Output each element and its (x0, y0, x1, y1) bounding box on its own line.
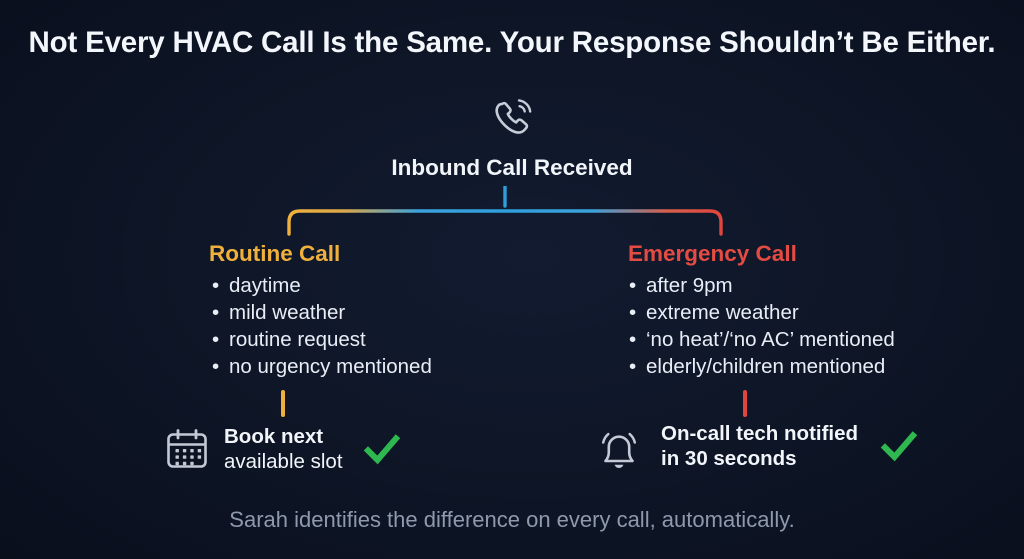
infographic-canvas: Not Every HVAC Call Is the Same. Your Re… (0, 0, 1024, 559)
branch-heading-emergency: Emergency Call (628, 241, 797, 267)
branch-heading-routine: Routine Call (209, 241, 340, 267)
connector-stub-routine (281, 390, 285, 417)
list-item: ‘no heat’/‘no AC’ mentioned (628, 326, 895, 353)
list-item: elderly/children mentioned (628, 353, 895, 380)
list-item: extreme weather (628, 299, 895, 326)
calendar-icon (163, 425, 211, 473)
outcome-line-2: available slot (224, 449, 343, 474)
footer-caption: Sarah identifies the difference on every… (0, 507, 1024, 533)
branch-criteria-routine: daytime mild weather routine request no … (211, 272, 432, 380)
bell-icon (593, 422, 645, 470)
outcome-text-routine: Book next available slot (224, 424, 343, 474)
check-icon (363, 430, 401, 468)
list-item: daytime (211, 272, 432, 299)
page-title: Not Every HVAC Call Is the Same. Your Re… (0, 26, 1024, 60)
list-item: routine request (211, 326, 432, 353)
outcome-emergency: On-call tech notified in 30 seconds (593, 421, 918, 471)
list-item: no urgency mentioned (211, 353, 432, 380)
branch-connector (270, 186, 740, 238)
outcome-line-1: Book next (224, 424, 343, 449)
branch-criteria-emergency: after 9pm extreme weather ‘no heat’/‘no … (628, 272, 895, 380)
list-item: mild weather (211, 299, 432, 326)
outcome-line-2: in 30 seconds (661, 446, 858, 471)
root-node-label: Inbound Call Received (0, 155, 1024, 181)
check-icon (880, 427, 918, 465)
list-item: after 9pm (628, 272, 895, 299)
outcome-line-1: On-call tech notified (661, 421, 858, 446)
outcome-text-emergency: On-call tech notified in 30 seconds (661, 421, 858, 471)
phone-call-icon (486, 92, 540, 146)
outcome-routine: Book next available slot (163, 424, 401, 474)
connector-stub-emergency (743, 390, 747, 417)
